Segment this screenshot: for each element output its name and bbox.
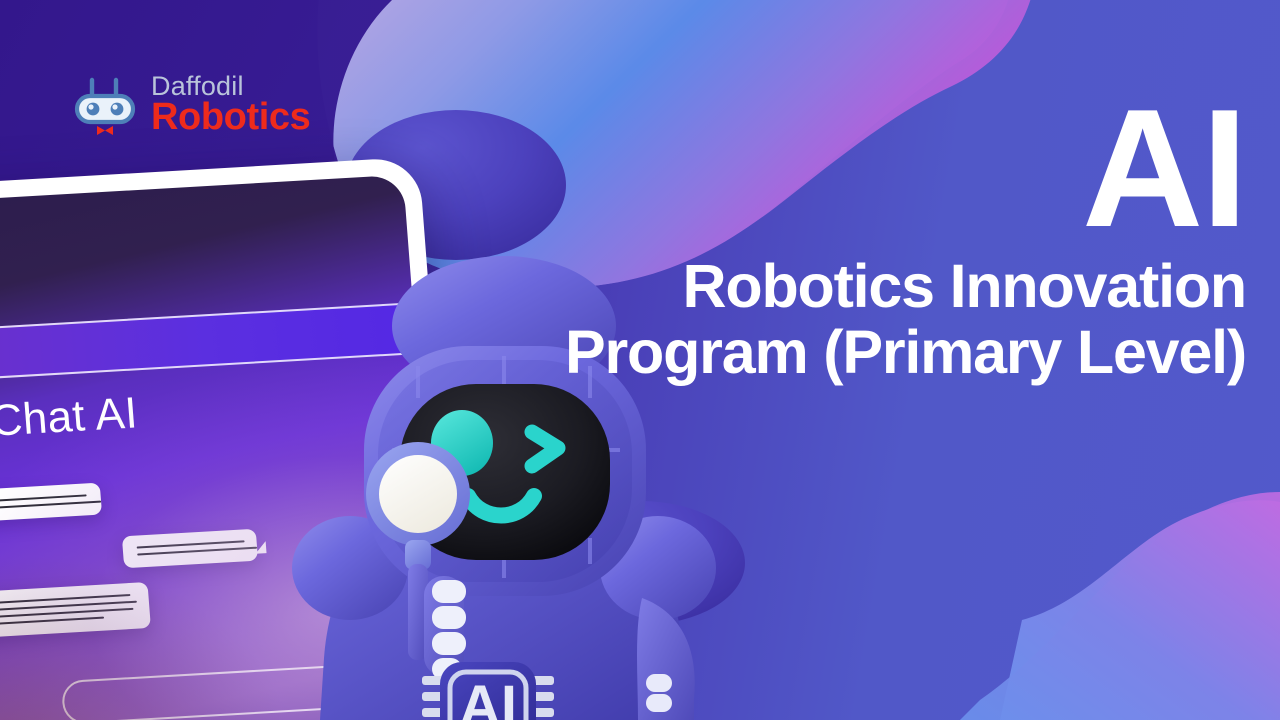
chat-heading: Chat AI <box>0 388 139 446</box>
hero-headline-sub: Robotics Innovation Program (Primary Lev… <box>544 254 1246 386</box>
chat-bubble <box>0 582 151 638</box>
robot-head-icon <box>72 74 138 136</box>
bubble-line <box>0 617 104 626</box>
brand-name-bottom: Robotics <box>151 100 310 136</box>
blob-bottom-wave-2 <box>960 492 1280 720</box>
hero-text-block: AI Robotics Innovation Program (Primary … <box>544 96 1246 386</box>
chat-bubble <box>0 483 102 523</box>
bubble-line <box>137 547 257 556</box>
chat-message-row <box>0 483 102 526</box>
brand-logo: Daffodil Robotics <box>72 74 310 136</box>
bubble-line <box>0 608 133 619</box>
chat-message-row <box>0 582 151 641</box>
bubble-line <box>0 501 101 510</box>
chat-message-row <box>122 529 258 569</box>
brand-wordmark: Daffodil Robotics <box>151 74 310 136</box>
chat-bubble <box>122 529 258 569</box>
hero-headline-main: AI <box>544 96 1246 240</box>
ai-chip-label: AI <box>459 674 517 720</box>
poster-canvas: Daffodil Robotics Chat AI <box>0 0 1280 720</box>
